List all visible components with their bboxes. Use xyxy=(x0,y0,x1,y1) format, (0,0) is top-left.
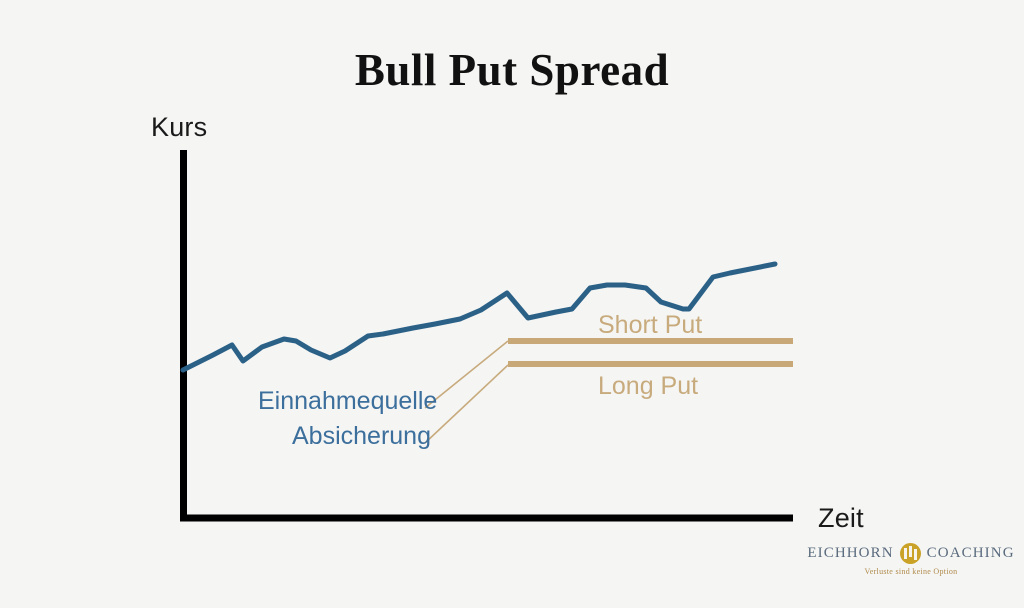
logo-word-left: EICHHORN xyxy=(807,545,893,562)
chart-canvas: Bull Put Spread Kurs Zeit Short Put Long… xyxy=(0,0,1024,608)
long-put-label: Long Put xyxy=(598,372,698,401)
plot-area xyxy=(0,0,1024,608)
income-source-label: Einnahmequelle xyxy=(258,387,437,416)
short-put-label: Short Put xyxy=(598,311,702,340)
income-leader-line xyxy=(425,341,508,408)
brand-logo: EICHHORN COACHING Verluste sind keine Op… xyxy=(818,543,1004,583)
logo-wordmark-row: EICHHORN COACHING xyxy=(818,543,1004,563)
logo-tagline: Verluste sind keine Option xyxy=(818,567,1004,576)
logo-word-right: COACHING xyxy=(927,545,1015,562)
hedge-label: Absicherung xyxy=(292,422,431,451)
hedge-leader-line xyxy=(425,365,508,443)
logo-mark-icon xyxy=(900,543,921,564)
